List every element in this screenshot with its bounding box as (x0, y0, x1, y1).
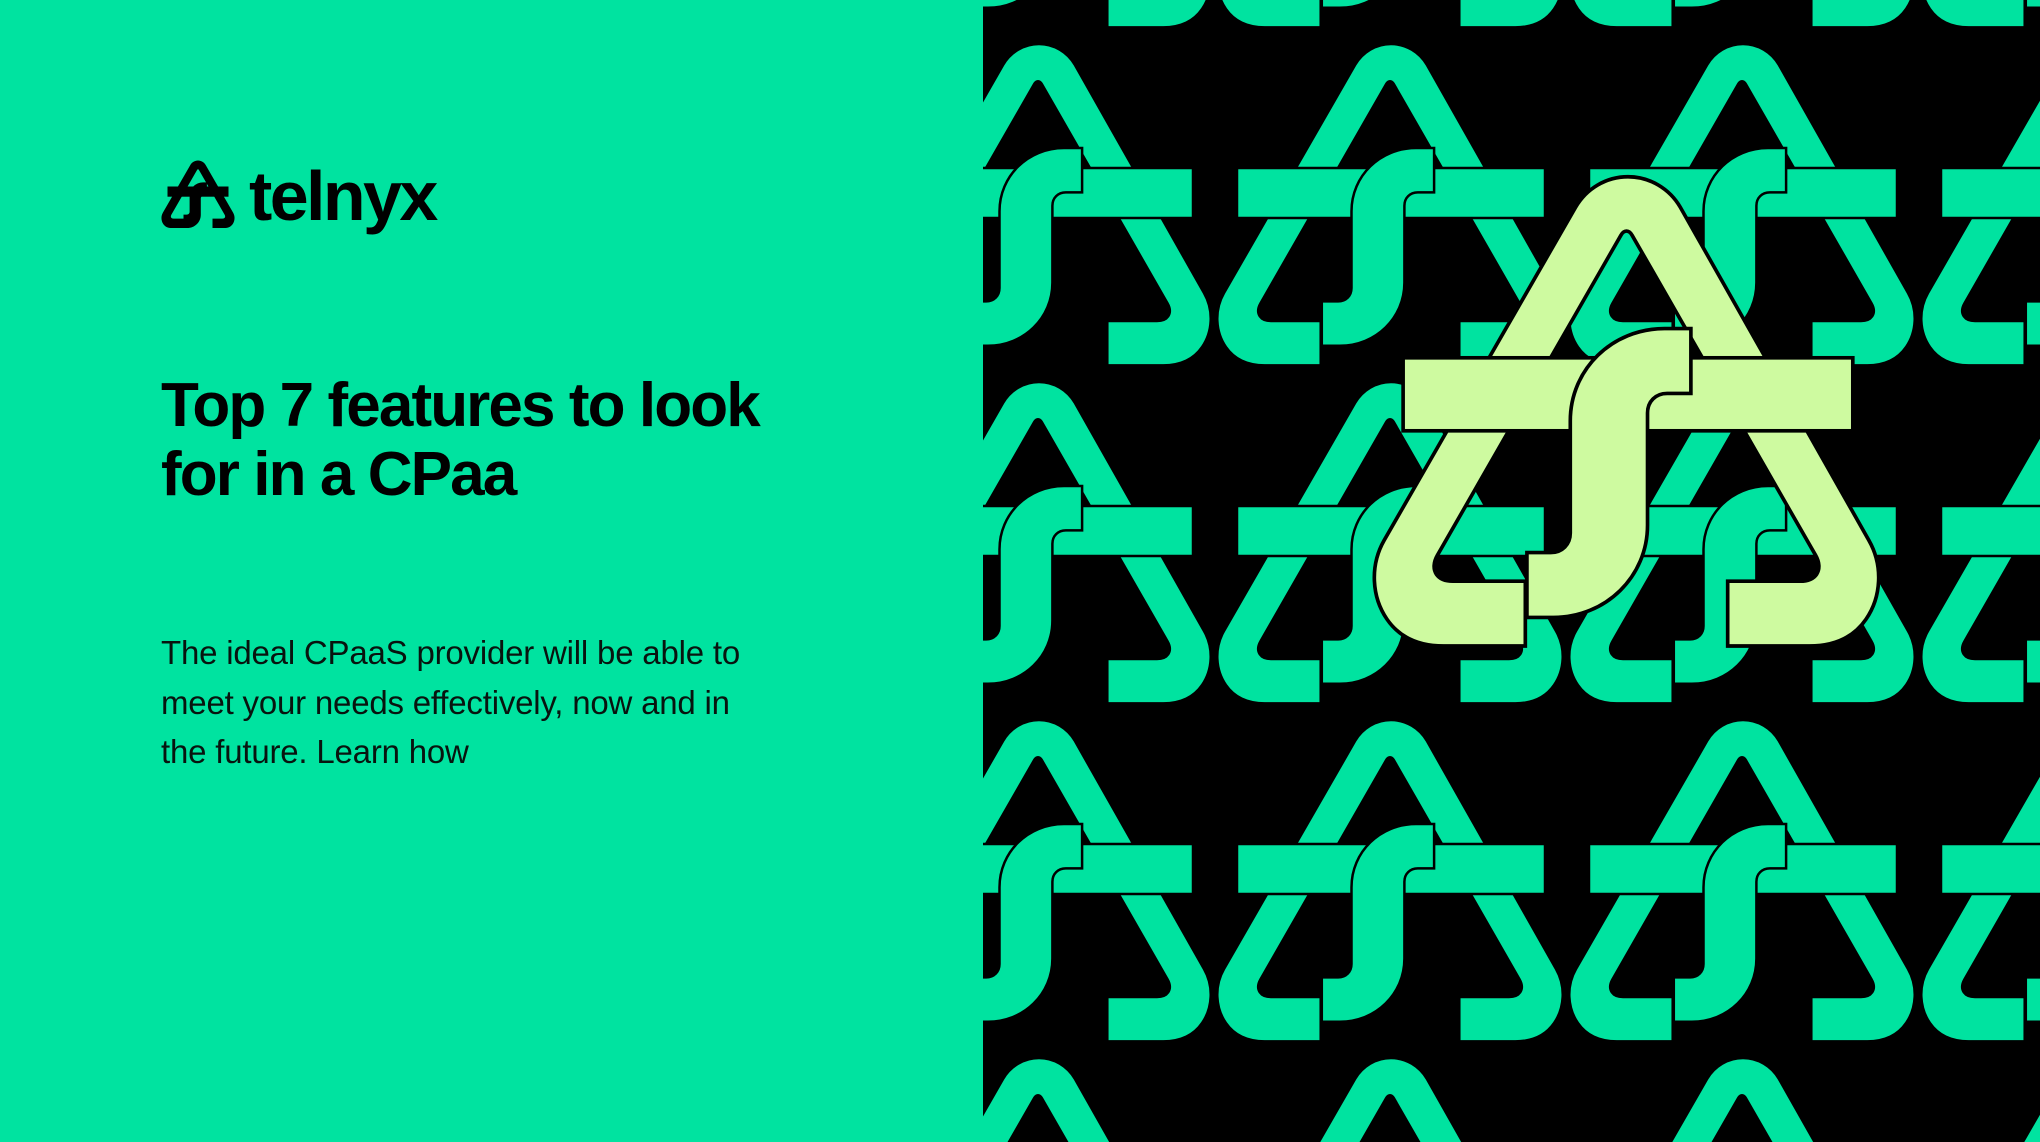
body-paragraph: The ideal CPaaS provider will be able to… (161, 628, 781, 777)
slide-root: telnyx Top 7 features to look for in a C… (0, 0, 2040, 1142)
brand-wordmark: telnyx (249, 161, 436, 231)
page-title: Top 7 features to look for in a CPaa (161, 371, 801, 509)
left-content-panel: telnyx Top 7 features to look for in a C… (0, 0, 983, 1142)
brand-lockup[interactable]: telnyx (161, 158, 436, 230)
telnyx-pattern-artwork (983, 0, 2040, 1142)
artwork-panel (983, 0, 2040, 1142)
telnyx-triangle-knot-icon (161, 160, 235, 228)
